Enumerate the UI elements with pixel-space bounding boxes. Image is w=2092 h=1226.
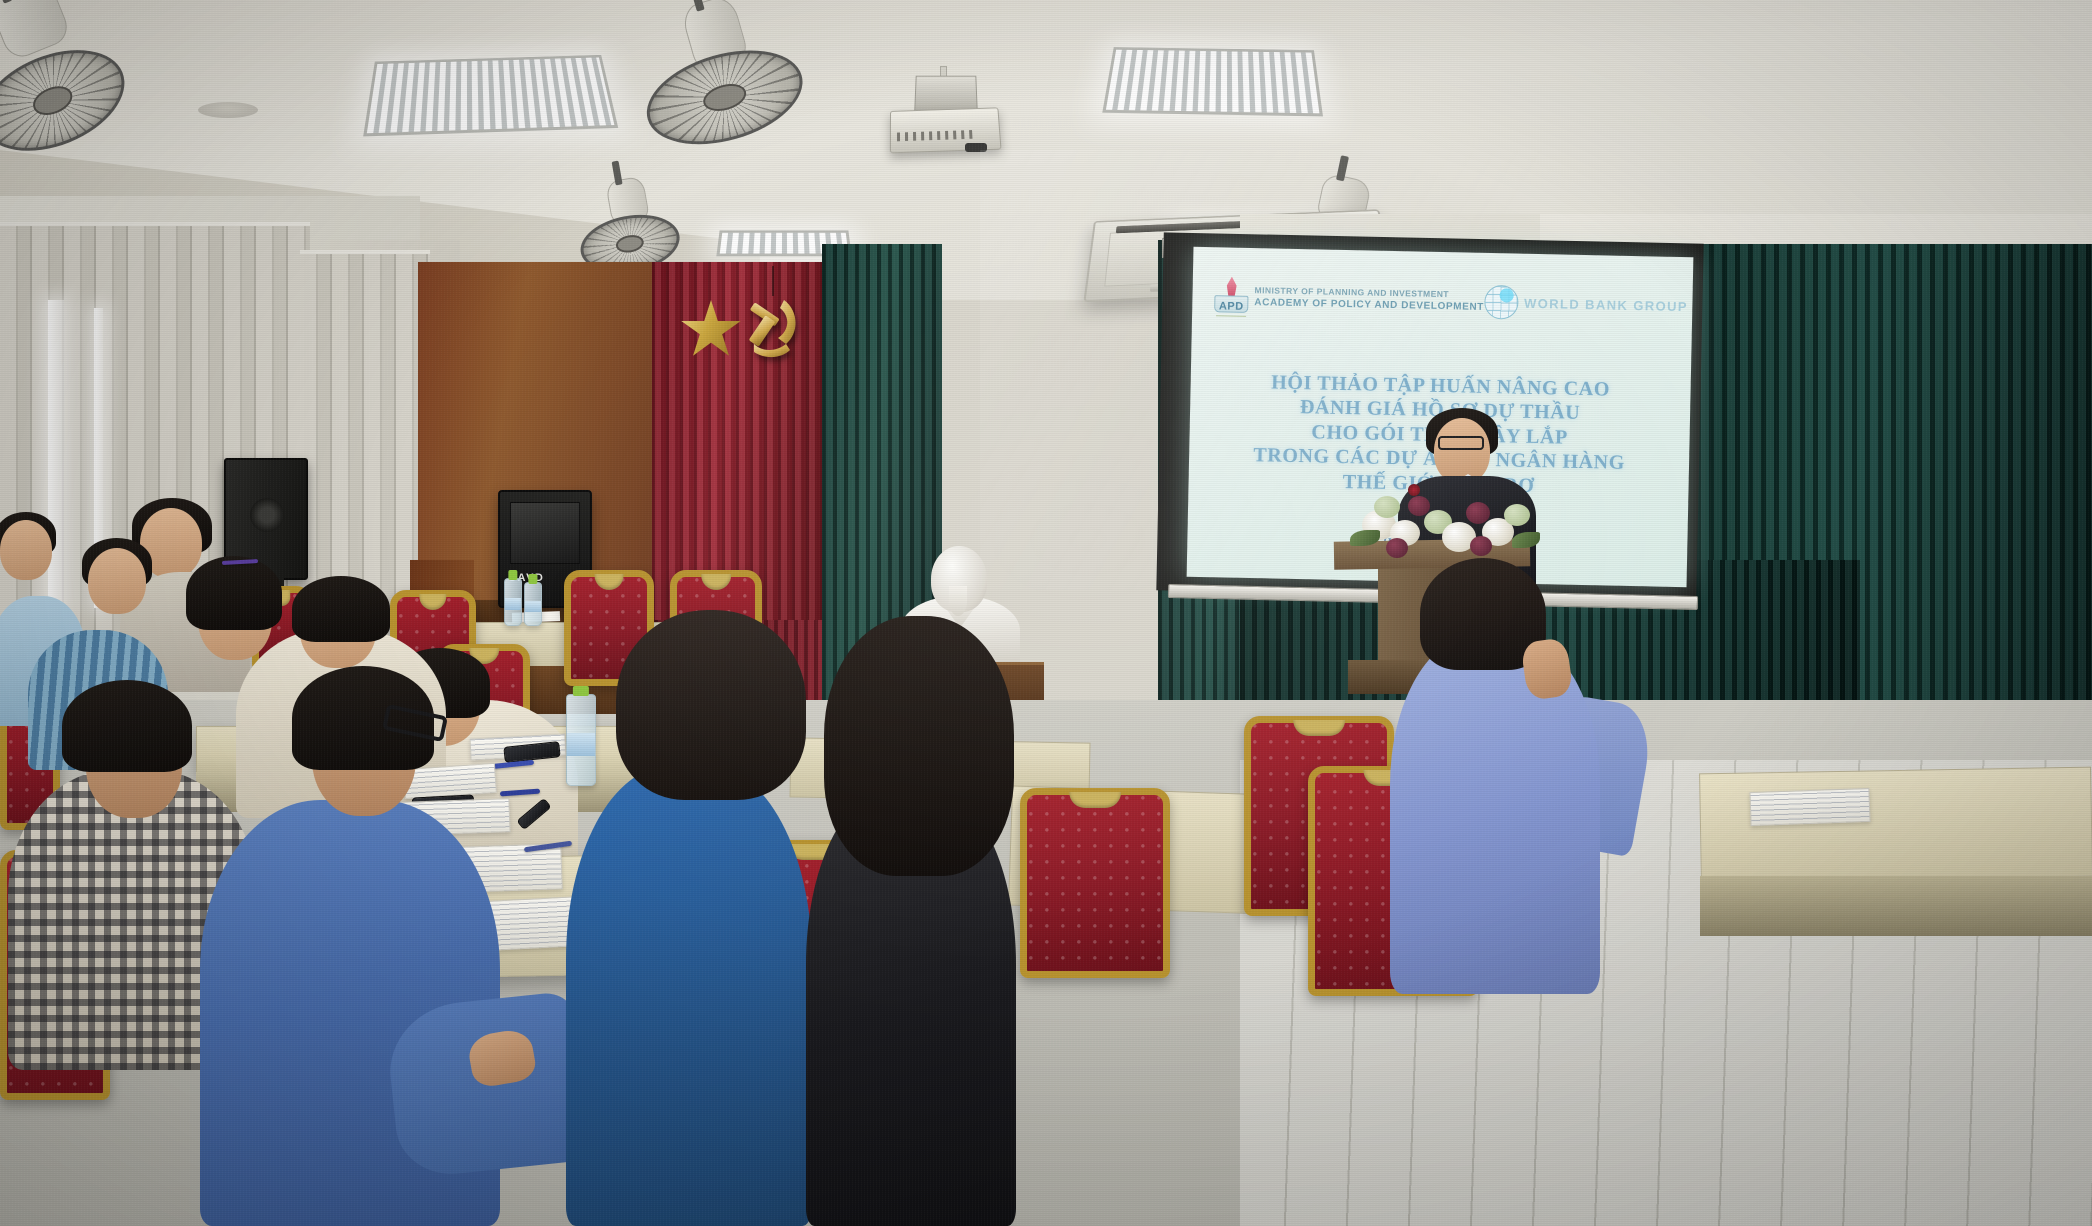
water-bottle[interactable] (504, 578, 522, 626)
hammer-and-sickle-emblem (742, 294, 806, 364)
slide-logo-row: APD MINISTRY OF PLANNING AND INVESTMENT … (1214, 265, 1671, 337)
ceiling-light-panel (363, 55, 618, 137)
audience-member-torso (566, 766, 812, 1226)
emblem-hanging-wire (772, 266, 774, 296)
apd-acronym: APD (1214, 300, 1248, 313)
person-hair (186, 556, 282, 630)
apd-logo: APD MINISTRY OF PLANNING AND INVESTMENT … (1214, 276, 1484, 322)
flower-arrangement (1346, 490, 1542, 562)
handout-paper[interactable] (1749, 788, 1870, 826)
smoke-detector (198, 102, 258, 118)
world-bank-logo: WORLD BANK GROUP (1484, 285, 1689, 323)
ceiling-light-panel (1102, 47, 1323, 116)
audience-member-torso (1390, 634, 1600, 994)
water-bottle[interactable] (524, 582, 542, 626)
person-hair (616, 610, 806, 800)
presenter-head (1434, 418, 1490, 484)
loudspeaker-cone (250, 498, 284, 532)
banquet-chair[interactable] (1020, 788, 1170, 978)
person-hair (824, 616, 1014, 876)
world-bank-label: WORLD BANK GROUP (1524, 295, 1688, 313)
projector-lens (965, 143, 987, 152)
presenter-glasses (1438, 436, 1484, 450)
audience-member-head (0, 520, 52, 580)
person-hair (62, 680, 192, 772)
water-bottle[interactable] (566, 694, 596, 786)
world-bank-globe-icon (1484, 285, 1519, 320)
audience-member-head (88, 548, 146, 614)
monitor-screen (510, 502, 580, 564)
window-light-gap (48, 300, 64, 610)
ho-chi-minh-bust-beard (949, 586, 967, 616)
person-hair (292, 576, 390, 642)
conference-room-photo: APD MINISTRY OF PLANNING AND INVESTMENT … (0, 0, 2092, 1226)
projector-mount (914, 76, 978, 111)
meeting-table-apron (1700, 876, 2092, 936)
apd-flame-book-icon: APD (1214, 276, 1249, 317)
